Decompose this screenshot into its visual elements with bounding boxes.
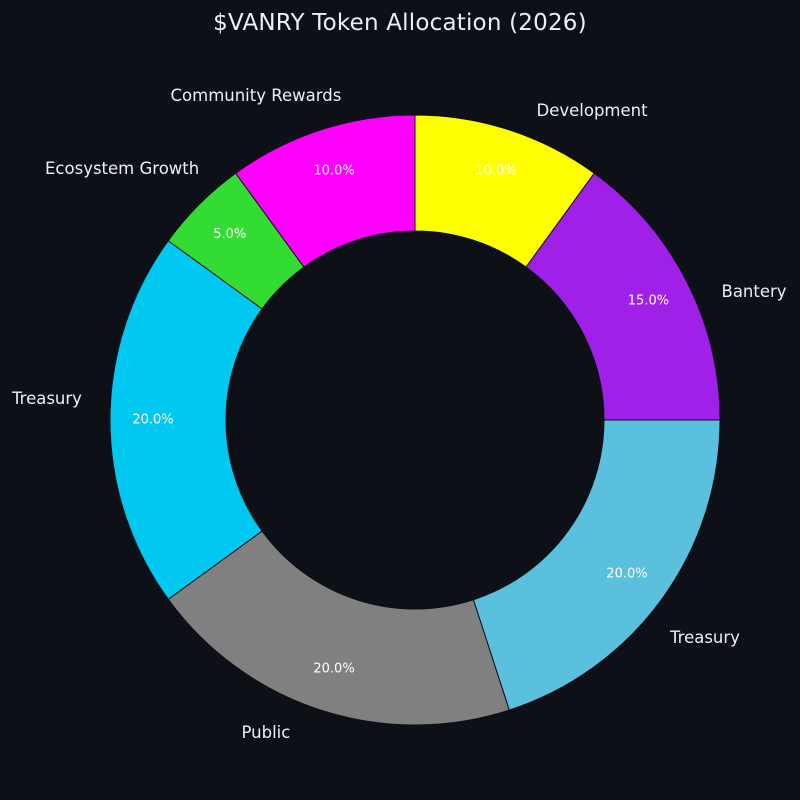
pie-slice-category-label: Public [242, 723, 291, 742]
pie-slice-category-label: Bantery [722, 282, 787, 301]
pie-slice-percent-label: 5.0% [213, 227, 246, 242]
pie-slice-percent-label: 20.0% [132, 413, 173, 428]
pie-slice-category-label: Community Rewards [171, 86, 342, 105]
pie-slices-group [110, 115, 720, 725]
pie-slice-category-label: Treasury [12, 389, 82, 408]
pie-slice-percent-label: 20.0% [313, 662, 354, 677]
pie-slice-percent-label: 20.0% [606, 566, 647, 581]
pie-slice-percent-label: 15.0% [628, 294, 669, 309]
pie-slice-category-label: Treasury [670, 628, 740, 647]
pie-slice-percent-label: 10.0% [475, 163, 516, 178]
pie-slice-percent-label: 10.0% [313, 163, 354, 178]
donut-chart: 10.0%15.0%20.0%20.0%20.0%5.0%10.0% [0, 0, 800, 800]
pie-slice[interactable] [473, 420, 720, 710]
chart-canvas: $VANRY Token Allocation (2026) 10.0%15.0… [0, 0, 800, 800]
pie-slice-category-label: Development [537, 101, 648, 120]
pie-slice-category-label: Ecosystem Growth [45, 159, 199, 178]
